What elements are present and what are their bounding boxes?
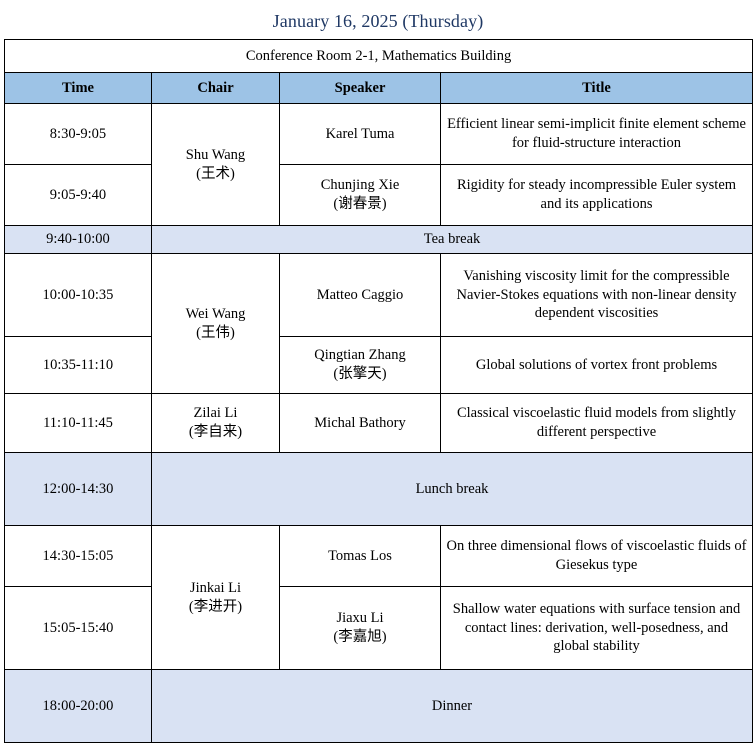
table-row: 10:35-11:10 Qingtian Zhang (张擎天) Global …	[5, 337, 753, 394]
chair-name-cn: (王伟)	[156, 324, 275, 343]
chair-name-cn: (李自来)	[156, 423, 275, 442]
cell-speaker: Qingtian Zhang (张擎天)	[280, 337, 441, 394]
speaker-name-en: Qingtian Zhang	[314, 347, 405, 363]
table-row-break: 9:40-10:00 Tea break	[5, 226, 753, 254]
cell-break-label: Tea break	[152, 226, 753, 254]
cell-time: 12:00-14:30	[5, 453, 152, 526]
cell-chair: Wei Wang (王伟)	[152, 254, 280, 394]
chair-name-en: Zilai Li	[194, 405, 238, 421]
table-row-break: 18:00-20:00 Dinner	[5, 670, 753, 743]
table-row: 8:30-9:05 Shu Wang (王术) Karel Tuma Effic…	[5, 104, 753, 165]
cell-time: 14:30-15:05	[5, 526, 152, 587]
cell-speaker: Chunjing Xie (谢春景)	[280, 165, 441, 226]
schedule-table: Conference Room 2-1, Mathematics Buildin…	[4, 39, 753, 743]
cell-time: 10:00-10:35	[5, 254, 152, 337]
speaker-name-en: Matteo Caggio	[317, 287, 404, 303]
cell-speaker: Michal Bathory	[280, 394, 441, 453]
cell-time: 8:30-9:05	[5, 104, 152, 165]
venue-label: Conference Room 2-1, Mathematics Buildin…	[5, 40, 753, 73]
chair-name-en: Shu Wang	[186, 147, 245, 163]
cell-break-label: Dinner	[152, 670, 753, 743]
page-title: January 16, 2025 (Thursday)	[0, 0, 756, 39]
cell-speaker: Matteo Caggio	[280, 254, 441, 337]
column-header-speaker: Speaker	[280, 73, 441, 104]
speaker-name-en: Karel Tuma	[326, 126, 395, 142]
cell-time: 10:35-11:10	[5, 337, 152, 394]
chair-name-en: Jinkai Li	[190, 580, 241, 596]
cell-title: Global solutions of vortex front problem…	[441, 337, 753, 394]
cell-time: 9:05-9:40	[5, 165, 152, 226]
speaker-name-en: Jiaxu Li	[336, 610, 383, 626]
cell-chair: Zilai Li (李自来)	[152, 394, 280, 453]
cell-title: Efficient linear semi-implicit finite el…	[441, 104, 753, 165]
speaker-name-cn: (张擎天)	[284, 365, 436, 384]
cell-title: Rigidity for steady incompressible Euler…	[441, 165, 753, 226]
table-row-break: 12:00-14:30 Lunch break	[5, 453, 753, 526]
cell-chair: Jinkai Li (李进开)	[152, 526, 280, 670]
cell-speaker: Jiaxu Li (李嘉旭)	[280, 587, 441, 670]
chair-name-cn: (王术)	[156, 165, 275, 184]
cell-time: 15:05-15:40	[5, 587, 152, 670]
column-header-title: Title	[441, 73, 753, 104]
header-row: Time Chair Speaker Title	[5, 73, 753, 104]
cell-title: Classical viscoelastic fluid models from…	[441, 394, 753, 453]
cell-speaker: Tomas Los	[280, 526, 441, 587]
table-row: 11:10-11:45 Zilai Li (李自来) Michal Bathor…	[5, 394, 753, 453]
table-row: 9:05-9:40 Chunjing Xie (谢春景) Rigidity fo…	[5, 165, 753, 226]
chair-name-cn: (李进开)	[156, 598, 275, 617]
cell-time: 18:00-20:00	[5, 670, 152, 743]
chair-name-en: Wei Wang	[186, 306, 246, 322]
venue-row: Conference Room 2-1, Mathematics Buildin…	[5, 40, 753, 73]
table-row: 15:05-15:40 Jiaxu Li (李嘉旭) Shallow water…	[5, 587, 753, 670]
cell-title: On three dimensional flows of viscoelast…	[441, 526, 753, 587]
speaker-name-en: Chunjing Xie	[321, 177, 400, 193]
cell-time: 11:10-11:45	[5, 394, 152, 453]
cell-time: 9:40-10:00	[5, 226, 152, 254]
speaker-name-cn: (李嘉旭)	[284, 628, 436, 647]
speaker-name-en: Tomas Los	[328, 548, 392, 564]
cell-title: Shallow water equations with surface ten…	[441, 587, 753, 670]
cell-chair: Shu Wang (王术)	[152, 104, 280, 226]
table-row: 10:00-10:35 Wei Wang (王伟) Matteo Caggio …	[5, 254, 753, 337]
cell-speaker: Karel Tuma	[280, 104, 441, 165]
speaker-name-en: Michal Bathory	[314, 415, 405, 431]
cell-title: Vanishing viscosity limit for the compre…	[441, 254, 753, 337]
table-row: 14:30-15:05 Jinkai Li (李进开) Tomas Los On…	[5, 526, 753, 587]
cell-break-label: Lunch break	[152, 453, 753, 526]
column-header-time: Time	[5, 73, 152, 104]
column-header-chair: Chair	[152, 73, 280, 104]
speaker-name-cn: (谢春景)	[284, 195, 436, 214]
